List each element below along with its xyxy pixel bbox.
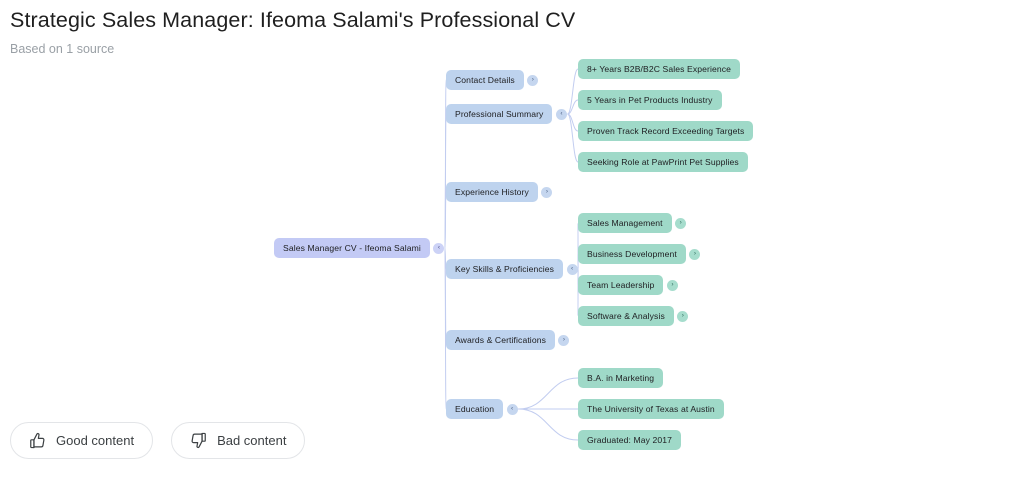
- node-label: Team Leadership: [587, 280, 654, 290]
- root-collapse-chevron[interactable]: ‹: [433, 243, 444, 254]
- mindmap-branch-key-skills-proficiencies[interactable]: Key Skills & Proficiencies: [446, 259, 563, 279]
- mindmap-branch-professional-summary[interactable]: Professional Summary: [446, 104, 552, 124]
- node-label: The University of Texas at Austin: [587, 404, 715, 414]
- node-label: Education: [455, 404, 494, 414]
- node-label: 5 Years in Pet Products Industry: [587, 95, 713, 105]
- mindmap-leaf-b-a-in-marketing[interactable]: B.A. in Marketing: [578, 368, 663, 388]
- mindmap-leaf-proven-track-record-exceeding-targets[interactable]: Proven Track Record Exceeding Targets: [578, 121, 753, 141]
- node-label: Professional Summary: [455, 109, 543, 119]
- mindmap-leaf-5-years-in-pet-products-industry[interactable]: 5 Years in Pet Products Industry: [578, 90, 722, 110]
- mindmap-leaf-business-development[interactable]: Business Development: [578, 244, 686, 264]
- thumbs-down-icon: [190, 432, 207, 449]
- branch-expand-chevron-awards-certifications[interactable]: ›: [558, 335, 569, 346]
- node-label: Graduated: May 2017: [587, 435, 672, 445]
- node-label: Sales Management: [587, 218, 663, 228]
- node-label: Contact Details: [455, 75, 515, 85]
- mindmap-branch-experience-history[interactable]: Experience History: [446, 182, 538, 202]
- good-content-button[interactable]: Good content: [10, 422, 153, 459]
- good-content-label: Good content: [56, 433, 134, 448]
- mindmap-leaf-the-university-of-texas-at-austin[interactable]: The University of Texas at Austin: [578, 399, 724, 419]
- mindmap-page: Strategic Sales Manager: Ifeoma Salami's…: [0, 0, 1024, 479]
- mindmap-leaf-team-leadership[interactable]: Team Leadership: [578, 275, 663, 295]
- mindmap-branch-awards-certifications[interactable]: Awards & Certifications: [446, 330, 555, 350]
- mindmap-canvas[interactable]: Sales Manager CV - Ifeoma Salami‹Contact…: [0, 0, 1024, 479]
- branch-expand-chevron-contact-details[interactable]: ›: [527, 75, 538, 86]
- mindmap-leaf-graduated-may-2017[interactable]: Graduated: May 2017: [578, 430, 681, 450]
- node-label: Seeking Role at PawPrint Pet Supplies: [587, 157, 739, 167]
- node-label: Key Skills & Proficiencies: [455, 264, 554, 274]
- leaf-expand-chevron-business-development[interactable]: ›: [689, 249, 700, 260]
- node-label: Software & Analysis: [587, 311, 665, 321]
- bad-content-button[interactable]: Bad content: [171, 422, 305, 459]
- thumbs-up-icon: [29, 432, 46, 449]
- node-label: Awards & Certifications: [455, 335, 546, 345]
- branch-collapse-chevron-key-skills-proficiencies[interactable]: ‹: [567, 264, 578, 275]
- node-label: 8+ Years B2B/B2C Sales Experience: [587, 64, 731, 74]
- node-label: Experience History: [455, 187, 529, 197]
- leaf-expand-chevron-sales-management[interactable]: ›: [675, 218, 686, 229]
- branch-collapse-chevron-professional-summary[interactable]: ‹: [556, 109, 567, 120]
- bad-content-label: Bad content: [217, 433, 286, 448]
- mindmap-leaf-sales-management[interactable]: Sales Management: [578, 213, 672, 233]
- node-label: Sales Manager CV - Ifeoma Salami: [283, 243, 421, 253]
- node-label: Business Development: [587, 249, 677, 259]
- mindmap-root-node[interactable]: Sales Manager CV - Ifeoma Salami: [274, 238, 430, 258]
- leaf-expand-chevron-team-leadership[interactable]: ›: [667, 280, 678, 291]
- branch-collapse-chevron-education[interactable]: ‹: [507, 404, 518, 415]
- mindmap-branch-contact-details[interactable]: Contact Details: [446, 70, 524, 90]
- mindmap-leaf-seeking-role-at-pawprint-pet-supplies[interactable]: Seeking Role at PawPrint Pet Supplies: [578, 152, 748, 172]
- branch-expand-chevron-experience-history[interactable]: ›: [541, 187, 552, 198]
- leaf-expand-chevron-software-analysis[interactable]: ›: [677, 311, 688, 322]
- mindmap-branch-education[interactable]: Education: [446, 399, 503, 419]
- feedback-bar: Good content Bad content: [10, 422, 305, 459]
- node-label: Proven Track Record Exceeding Targets: [587, 126, 744, 136]
- node-label: B.A. in Marketing: [587, 373, 654, 383]
- mindmap-leaf-software-analysis[interactable]: Software & Analysis: [578, 306, 674, 326]
- mindmap-leaf-8-years-b2b-b2c-sales-experience[interactable]: 8+ Years B2B/B2C Sales Experience: [578, 59, 740, 79]
